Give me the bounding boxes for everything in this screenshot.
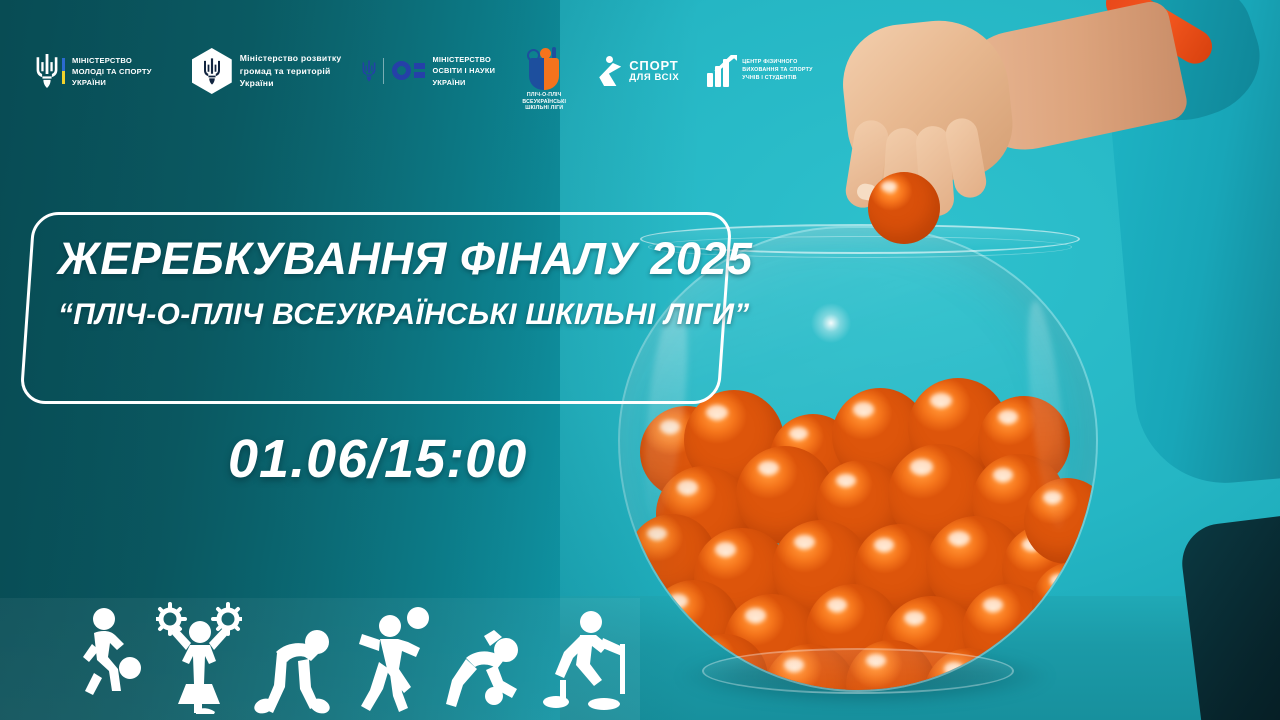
runner-head bbox=[606, 56, 613, 63]
runner-icon bbox=[597, 54, 623, 88]
page-subtitle: “ПЛІЧ-О-ПЛІЧ ВСЕУКРАЇНСЬКІ ШКІЛЬНІ ЛІГИ” bbox=[58, 300, 718, 330]
handball-pictogram bbox=[352, 604, 432, 714]
bar-1 bbox=[707, 73, 713, 87]
logo-label-ministry-education: МІНІСТЕРСТВО ОСВІТИ І НАУКИ УКРАЇНИ bbox=[432, 54, 495, 87]
logo-label-sport-for-all: СПОРТ ДЛЯ ВСІХ bbox=[629, 59, 679, 84]
shield-icon bbox=[529, 58, 559, 90]
shield-left-half bbox=[529, 58, 544, 90]
basketball-pictogram bbox=[72, 606, 144, 714]
mon-o-icon bbox=[392, 61, 425, 80]
event-datetime: 01.06/15:00 bbox=[228, 428, 527, 490]
logo-ministry-education: МІНІСТЕРСТВО ОСВІТИ І НАУКИ УКРАЇНИ bbox=[361, 54, 495, 87]
held-lottery-ball bbox=[868, 172, 940, 244]
cheerleading-pictogram bbox=[156, 602, 242, 714]
sport-pictogram-row bbox=[72, 588, 612, 714]
logo-ministry-communities: Міністерство розвитку громад та територі… bbox=[192, 48, 342, 94]
bowl-base bbox=[702, 648, 1014, 694]
logo-label-plich-o-plich: ПЛІЧ-О-ПЛІЧ ВСЕУКРАЇНСЬКІ ШКІЛЬНІ ЛІГИ bbox=[521, 92, 567, 112]
logo-center-physical-education: ЦЕНТР ФІЗИЧНОГО ВИХОВАННЯ ТА СПОРТУ УЧНІ… bbox=[707, 55, 812, 87]
tryzub-small-icon bbox=[361, 60, 377, 82]
poster-canvas: МІНІСТЕРСТВО МОЛОДІ ТА СПОРТУ УКРАЇНИ bbox=[0, 0, 1280, 720]
ukraine-flag-bar bbox=[62, 58, 65, 84]
partner-logo-bar: МІНІСТЕРСТВО МОЛОДІ ТА СПОРТУ УКРАЇНИ bbox=[34, 36, 813, 106]
logo-label-center-physical-education: ЦЕНТР ФІЗИЧНОГО ВИХОВАННЯ ТА СПОРТУ УЧНІ… bbox=[742, 59, 812, 82]
glass-glint bbox=[808, 300, 854, 346]
sdv-line1: СПОРТ bbox=[629, 59, 679, 72]
mon-circle bbox=[392, 61, 411, 80]
page-title: ЖЕРЕБКУВАННЯ ФІНАЛУ 2025 bbox=[58, 236, 718, 281]
shield-right-half bbox=[544, 58, 559, 90]
tryzub-icon bbox=[34, 54, 60, 88]
tryzub-hex-icon bbox=[192, 48, 232, 94]
rugby-pictogram bbox=[254, 614, 340, 714]
football-pictogram bbox=[444, 618, 530, 714]
rollerski-pictogram bbox=[542, 604, 630, 714]
logo-ministry-youth-sport: МІНІСТЕРСТВО МОЛОДІ ТА СПОРТУ УКРАЇНИ bbox=[34, 54, 152, 88]
logo-sport-for-all: СПОРТ ДЛЯ ВСІХ bbox=[597, 54, 679, 88]
logo-label-ministry-communities: Міністерство розвитку громад та територі… bbox=[240, 52, 342, 91]
sdv-line2: ДЛЯ ВСІХ bbox=[629, 72, 679, 84]
logo-divider bbox=[383, 58, 384, 84]
growth-arrow-icon bbox=[707, 55, 737, 87]
logo-plich-o-plich: ПЛІЧ-О-ПЛІЧ ВСЕУКРАЇНСЬКІ ШКІЛЬНІ ЛІГИ bbox=[521, 44, 567, 98]
runner-body bbox=[599, 63, 621, 86]
tryzub-glyph bbox=[202, 58, 222, 85]
logo-label-ministry-youth-sport: МІНІСТЕРСТВО МОЛОДІ ТА СПОРТУ УКРАЇНИ bbox=[72, 55, 152, 88]
mon-bars bbox=[414, 63, 425, 78]
title-block: ЖЕРЕБКУВАННЯ ФІНАЛУ 2025 “ПЛІЧ-О-ПЛІЧ ВС… bbox=[58, 236, 718, 330]
